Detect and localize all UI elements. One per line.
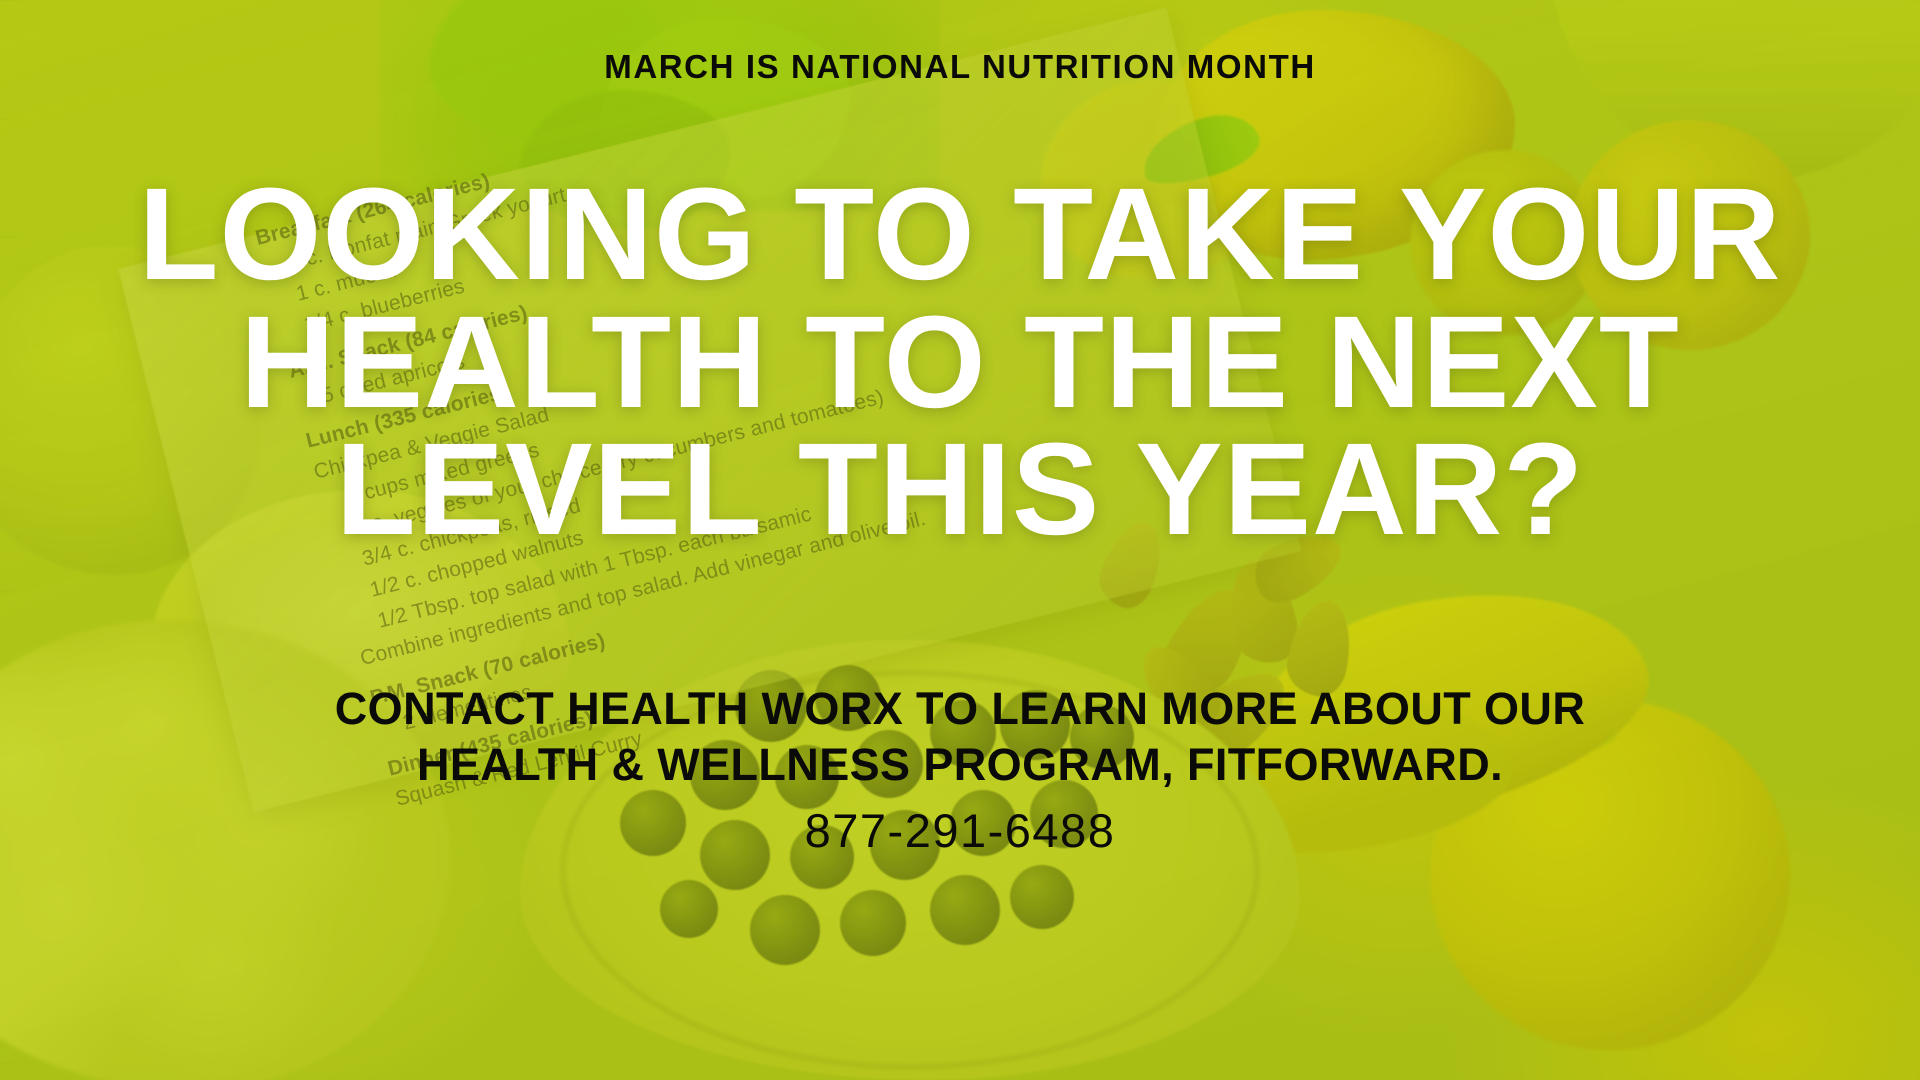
page-title: LOOKING TO TAKE YOUR HEALTH TO THE NEXT … — [65, 170, 1855, 553]
headline-line-3: LEVEL THIS YEAR? — [65, 425, 1855, 553]
eyebrow-heading: MARCH IS NATIONAL NUTRITION MONTH — [604, 48, 1316, 86]
nutrition-month-poster: Breakfast (264 calories) 1 c. Nonfat pla… — [0, 0, 1920, 1080]
contact-line-2: HEALTH & WELLNESS PROGRAM, FITFORWARD. — [335, 737, 1585, 793]
headline-line-2: HEALTH TO THE NEXT — [65, 298, 1855, 426]
phone-number[interactable]: 877-291-6488 — [335, 802, 1585, 861]
contact-line-1: CONTACT HEALTH WORX TO LEARN MORE ABOUT … — [335, 681, 1585, 737]
headline-line-1: LOOKING TO TAKE YOUR — [65, 170, 1855, 298]
poster-content: MARCH IS NATIONAL NUTRITION MONTH LOOKIN… — [0, 0, 1920, 1080]
contact-block: CONTACT HEALTH WORX TO LEARN MORE ABOUT … — [335, 681, 1585, 860]
